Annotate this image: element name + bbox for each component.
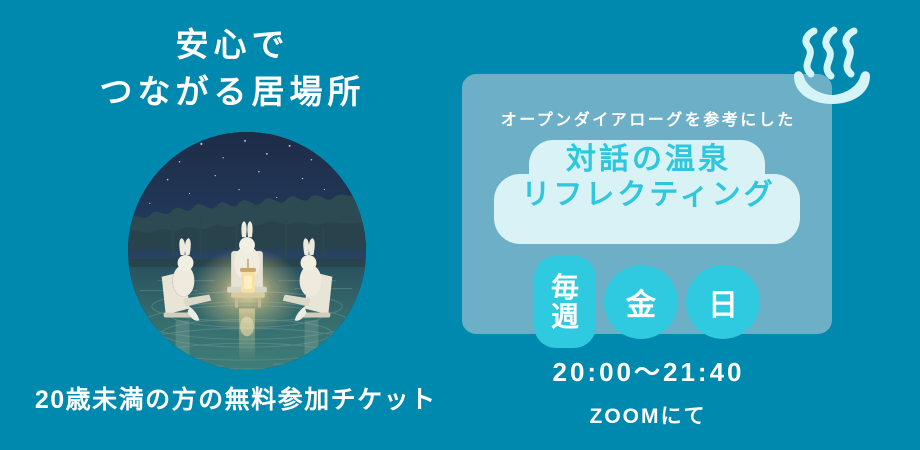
rabbits-lakeside-lantern-illustration	[128, 132, 366, 370]
headline: 安心で つながる居場所	[0, 22, 460, 116]
panel-subheading: オープンダイアローグを参考にした	[462, 106, 832, 130]
event-time: 20:00〜21:40	[462, 352, 832, 389]
badge-friday: 金	[604, 265, 678, 339]
headline-line-2: つながる居場所	[0, 69, 460, 116]
badge-sunday: 日	[686, 265, 760, 339]
badge-weekly-line-2: 週	[551, 302, 579, 331]
panel-title-line-2: リフレクティング	[462, 178, 832, 213]
poster-canvas: 安心で つながる居場所	[0, 0, 920, 450]
badge-weekly: 毎 週	[534, 256, 596, 348]
event-platform: ZOOMにて	[462, 400, 832, 430]
onsen-steam-icon	[786, 18, 878, 104]
panel-title: 対話の温泉 リフレクティング	[462, 142, 832, 213]
badge-weekly-line-1: 毎	[551, 273, 579, 302]
schedule-badges: 毎 週 金 日	[462, 256, 832, 348]
panel-title-line-1: 対話の温泉	[462, 142, 832, 178]
time-block: 20:00〜21:40 ZOOMにて	[462, 352, 832, 430]
left-column: 安心で つながる居場所	[0, 0, 460, 450]
headline-line-1: 安心で	[0, 22, 460, 69]
ticket-caption: 20歳未満の方の無料参加チケット	[0, 380, 470, 416]
info-panel: オープンダイアローグを参考にした 対話の温泉 リフレクティング 毎 週 金 日	[462, 74, 832, 334]
